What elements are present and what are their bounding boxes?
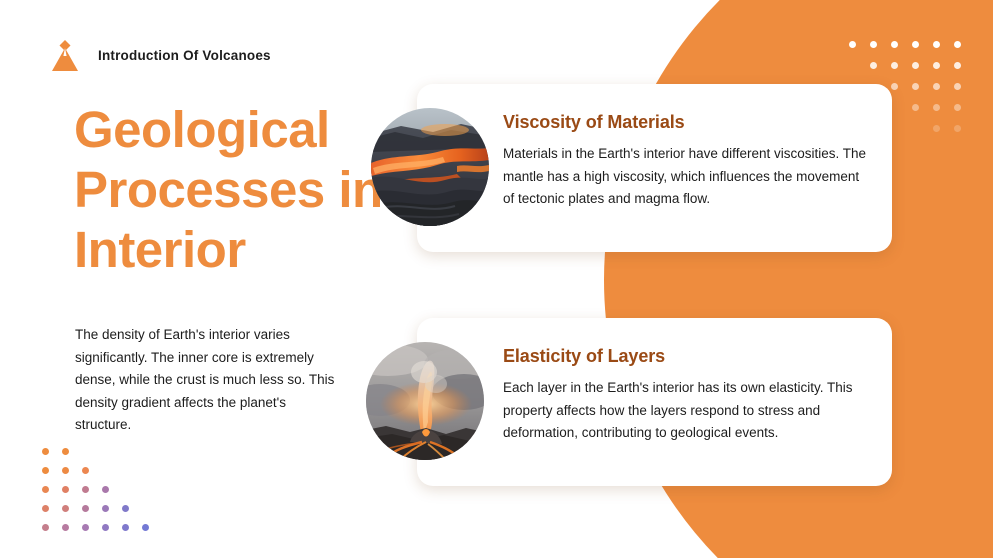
grid-dot: [102, 524, 109, 531]
grid-dot: [142, 524, 149, 531]
grid-dot: [42, 505, 49, 512]
slide-canvas: Introduction Of Volcanoes Geological Pro…: [0, 0, 993, 558]
grid-dot: [82, 467, 89, 474]
card-body: Elasticity of Layers Each layer in the E…: [503, 346, 873, 445]
grid-dot: [954, 41, 961, 48]
grid-dot: [954, 104, 961, 111]
grid-dot: [122, 524, 129, 531]
grid-dot: [42, 467, 49, 474]
grid-dot: [912, 62, 919, 69]
content-card-elasticity: Elasticity of Layers Each layer in the E…: [417, 318, 892, 486]
card-text: Each layer in the Earth's interior has i…: [503, 377, 873, 445]
grid-dot: [954, 125, 961, 132]
grid-dot: [870, 41, 877, 48]
grid-dot: [849, 41, 856, 48]
grid-dot: [62, 448, 69, 455]
grid-dot: [954, 83, 961, 90]
grid-dot: [954, 62, 961, 69]
grid-dot: [933, 83, 940, 90]
grid-dot: [933, 104, 940, 111]
volcano-icon: [44, 34, 86, 76]
grid-dot: [42, 524, 49, 531]
grid-dot: [870, 62, 877, 69]
grid-dot: [82, 524, 89, 531]
erupting-volcano-photo: [366, 342, 484, 460]
card-body: Viscosity of Materials Materials in the …: [503, 112, 873, 211]
grid-dot: [62, 505, 69, 512]
grid-dot: [82, 486, 89, 493]
grid-dot: [933, 62, 940, 69]
grid-dot: [122, 505, 129, 512]
grid-dot: [891, 62, 898, 69]
grid-dot: [912, 104, 919, 111]
intro-paragraph: The density of Earth's interior varies s…: [75, 324, 343, 437]
grid-dot: [62, 486, 69, 493]
gradient-dot-grid: [42, 448, 152, 528]
grid-dot: [102, 505, 109, 512]
page-title: Geological Processes in Interior: [74, 100, 384, 280]
header-title: Introduction Of Volcanoes: [98, 48, 271, 63]
grid-dot: [62, 524, 69, 531]
grid-dot: [42, 486, 49, 493]
card-title: Elasticity of Layers: [503, 346, 873, 367]
grid-dot: [912, 83, 919, 90]
slide-header: Introduction Of Volcanoes: [44, 34, 271, 76]
grid-dot: [62, 467, 69, 474]
grid-dot: [82, 505, 89, 512]
grid-dot: [42, 448, 49, 455]
grid-dot: [891, 83, 898, 90]
lava-flow-photo: [371, 108, 489, 226]
grid-dot: [933, 41, 940, 48]
card-text: Materials in the Earth's interior have d…: [503, 143, 873, 211]
grid-dot: [912, 41, 919, 48]
grid-dot: [891, 41, 898, 48]
grid-dot: [933, 125, 940, 132]
grid-dot: [102, 486, 109, 493]
card-title: Viscosity of Materials: [503, 112, 873, 133]
